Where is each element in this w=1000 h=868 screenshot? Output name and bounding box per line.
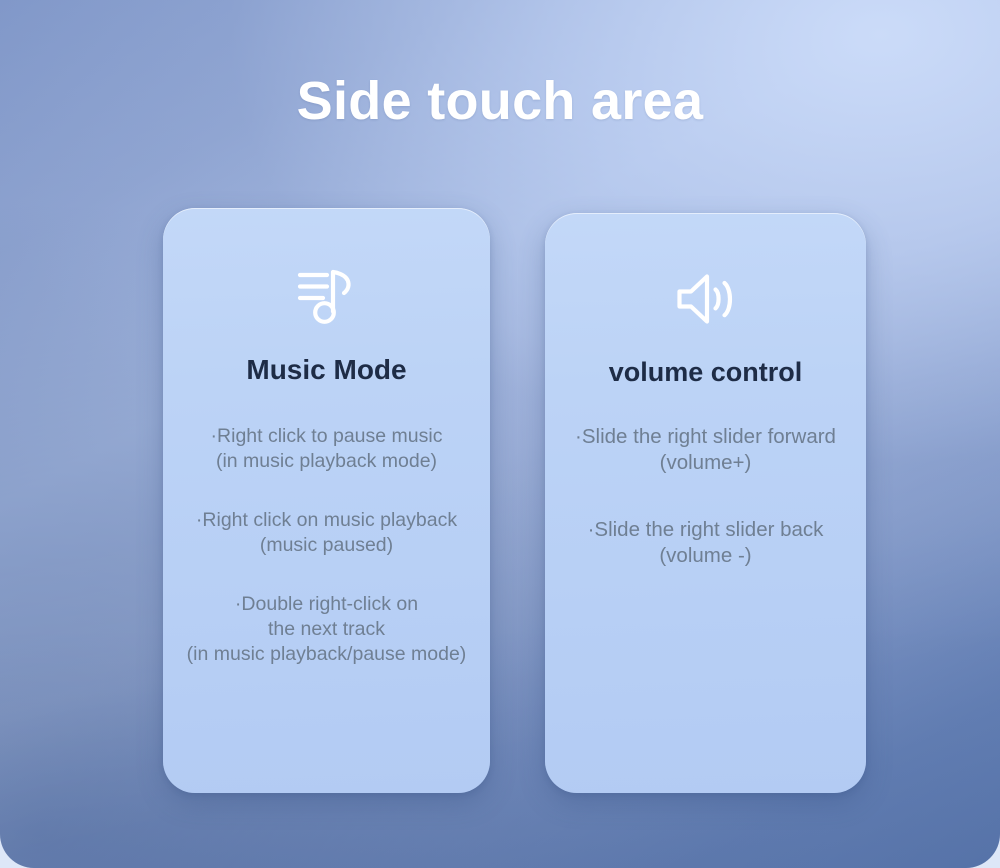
card-title: volume control: [609, 357, 803, 388]
music-playlist-note-icon: [291, 260, 363, 332]
card-line: ·Slide the right slider back: [559, 517, 852, 543]
card-body: ·Slide the right slider forward (volume+…: [559, 424, 852, 569]
card-paragraph: ·Right click to pause music (in music pl…: [177, 424, 476, 474]
card-line: the next track: [177, 617, 476, 642]
feature-card-music-mode[interactable]: Music Mode ·Right click to pause music (…: [163, 208, 490, 793]
card-line: ·Right click on music playback: [177, 508, 476, 533]
card-line: ·Slide the right slider forward: [559, 424, 852, 450]
card-line: ·Double right-click on: [177, 592, 476, 617]
card-line: (music paused): [177, 533, 476, 558]
page-title: Side touch area: [0, 70, 1000, 132]
card-paragraph: ·Slide the right slider back (volume -): [559, 517, 852, 569]
promo-panel: Side touch area Music Mode ·Right click …: [0, 0, 1000, 868]
card-line: (volume+): [559, 450, 852, 476]
card-paragraph: ·Slide the right slider forward (volume+…: [559, 424, 852, 476]
card-line: (in music playback/pause mode): [177, 642, 476, 667]
feature-card-volume-control[interactable]: volume control ·Slide the right slider f…: [545, 213, 866, 793]
card-paragraph: ·Double right-click on the next track (i…: [177, 592, 476, 667]
card-line: ·Right click to pause music: [177, 424, 476, 449]
card-body: ·Right click to pause music (in music pl…: [177, 424, 476, 667]
card-line: (volume -): [559, 543, 852, 569]
card-title: Music Mode: [246, 354, 406, 386]
card-paragraph: ·Right click on music playback (music pa…: [177, 508, 476, 558]
speaker-volume-icon: [670, 263, 742, 335]
card-line: (in music playback mode): [177, 449, 476, 474]
